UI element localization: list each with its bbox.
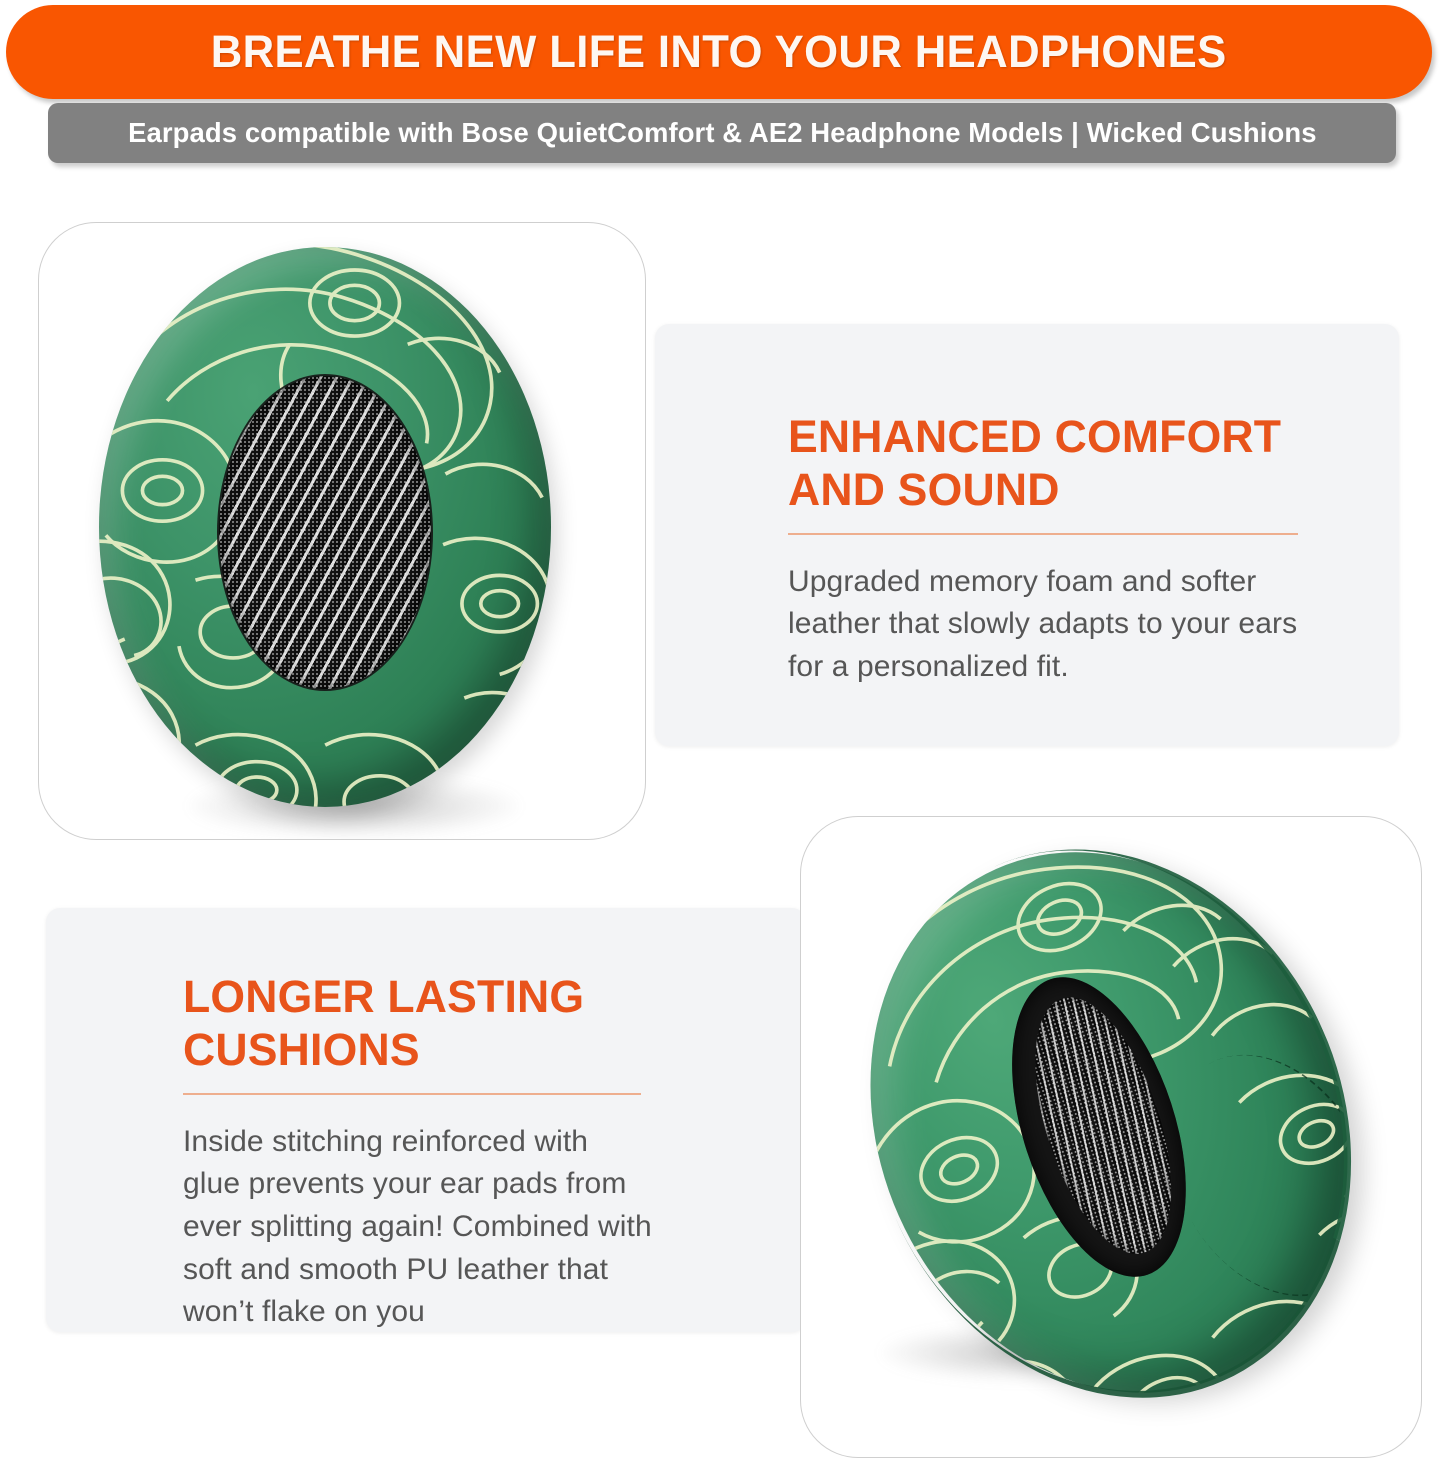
headline-text: BREATHE NEW LIFE INTO YOUR HEADPHONES [211, 26, 1227, 78]
subhead-banner: Earpads compatible with Bose QuietComfor… [48, 103, 1396, 163]
mesh-speaker-opening [219, 376, 431, 690]
earpad-angled-illustration [801, 817, 1421, 1457]
headline-banner: BREATHE NEW LIFE INTO YOUR HEADPHONES [6, 5, 1432, 99]
subhead-text: Earpads compatible with Bose QuietComfor… [128, 117, 1316, 149]
feature-title: LONGER LASTING CUSHIONS [183, 970, 658, 1076]
product-image-card-front [38, 222, 646, 840]
feature-body: Upgraded memory foam and softer leather … [788, 561, 1298, 689]
feature-divider [788, 533, 1298, 535]
feature-divider [183, 1093, 641, 1095]
earpad-body-front [99, 247, 551, 807]
earpad-front-illustration [39, 223, 645, 839]
product-image-card-angled [800, 816, 1422, 1458]
feature-card-longer-lasting: LONGER LASTING CUSHIONS Inside stitching… [46, 908, 806, 1332]
mesh-weave-texture [219, 376, 431, 690]
feature-body: Inside stitching reinforced with glue pr… [183, 1121, 653, 1332]
feature-title: ENHANCED COMFORT AND SOUND [788, 410, 1293, 516]
feature-card-enhanced-comfort: ENHANCED COMFORT AND SOUND Upgraded memo… [655, 324, 1399, 746]
